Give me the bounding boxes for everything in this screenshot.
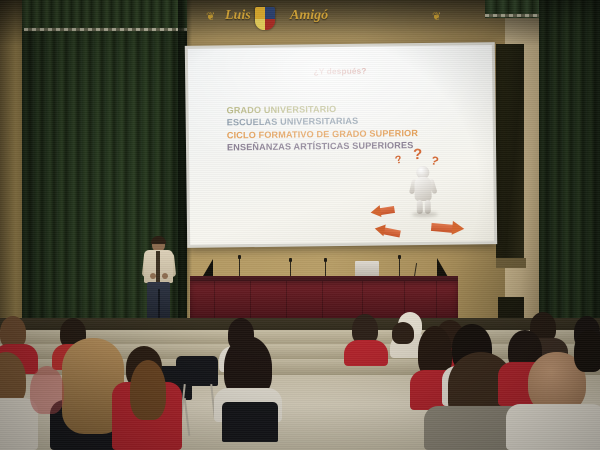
chair[interactable]: [176, 356, 218, 386]
person-hair: [30, 366, 64, 414]
person-hair: [574, 330, 600, 372]
presenter-leg-split: [158, 289, 160, 319]
figure-body: [414, 177, 431, 201]
microphone-4-capsule: [398, 255, 401, 259]
figure-shadow: [412, 212, 438, 217]
slide-graphic: ? ? ?: [369, 145, 480, 241]
banner-ornament-left: ❦: [206, 10, 213, 23]
curtain-rail-left: [24, 28, 187, 31]
microphone-3: [325, 261, 326, 277]
projection-screen: ¿Y después? GRADO UNIVERSITARIO ESCUELAS…: [185, 42, 497, 248]
banner-ornament-right: ❦: [432, 10, 439, 23]
presenter-hand-left: [150, 273, 156, 279]
person-shoulders: [344, 340, 388, 366]
shield-quarter-1: [255, 7, 265, 19]
question-mark-icon-2: ?: [413, 146, 422, 163]
stage-banner: [190, 281, 458, 318]
stage-side-doorway: [496, 44, 524, 259]
microphone-1-capsule: [238, 255, 241, 259]
person-hair: [130, 360, 166, 420]
laptop: [355, 261, 379, 276]
presenter-hand-right: [162, 273, 168, 279]
microphone-2-capsule: [289, 258, 292, 262]
chair[interactable]: [222, 402, 278, 442]
microphone-2: [290, 261, 291, 277]
question-mark-icon-3: ?: [429, 153, 440, 168]
doorway-sill: [496, 258, 526, 268]
presenter-sweater-placket: [156, 251, 160, 282]
microphone-4: [399, 258, 400, 277]
stage-curtain-left-valance: [22, 0, 187, 30]
wall-low-box: [498, 297, 524, 319]
presenter-hair: [151, 236, 166, 244]
banner-word-right: Amigó: [290, 8, 328, 24]
presenter: [140, 237, 180, 319]
auditorium-photo: ¿Y después? GRADO UNIVERSITARIO ESCUELAS…: [0, 0, 600, 450]
person-shoulders: [506, 404, 600, 450]
screen-surface: ¿Y después? GRADO UNIVERSITARIO ESCUELAS…: [188, 45, 494, 245]
person-hair: [392, 322, 414, 344]
shield-quarter-2: [265, 7, 275, 19]
slide-title: ¿Y después?: [188, 65, 492, 78]
coat-of-arms-shield: [255, 7, 275, 30]
banner-word-left: Luis: [225, 8, 251, 24]
microphone-1: [239, 258, 240, 277]
question-mark-icon-1: ?: [394, 154, 404, 167]
microphone-3-capsule: [324, 258, 327, 262]
